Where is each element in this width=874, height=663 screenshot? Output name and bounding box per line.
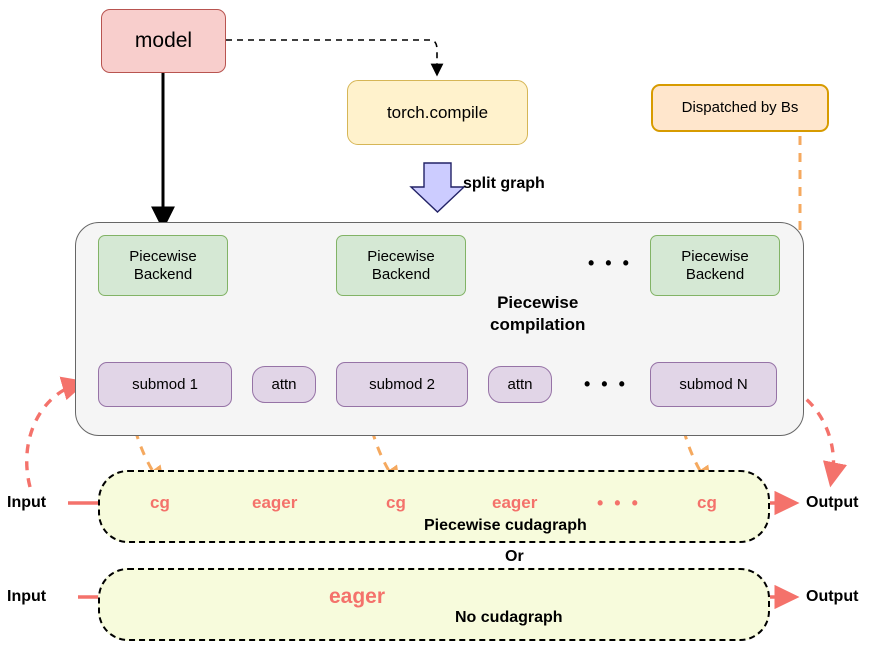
torch-compile-label: torch.compile <box>387 103 488 123</box>
submod-2[interactable]: submod 2 <box>336 362 468 407</box>
backend-1-line1: Piecewise <box>129 248 197 265</box>
attn-2-label: attn <box>507 376 532 393</box>
backend-1-line2: Backend <box>134 266 192 283</box>
piecewise-compilation-label-line1: Piecewise <box>490 292 585 314</box>
submod-ellipsis: • • • <box>584 374 628 395</box>
or-label: Or <box>505 548 524 566</box>
split-graph-label: split graph <box>463 175 545 193</box>
lane1-output-label: Output <box>806 494 858 512</box>
no-cudagraph-lane-label: No cudagraph <box>455 609 563 627</box>
lane2-step-eager: eager <box>329 585 385 609</box>
lane1-step-cg-3: cg <box>697 493 717 513</box>
submod-n-label: submod N <box>679 376 747 393</box>
dispatched-by-bs-label: Dispatched by Bs <box>682 99 799 116</box>
attn-1-label: attn <box>271 376 296 393</box>
diagram-canvas: model torch.compile Dispatched by Bs spl… <box>0 0 874 663</box>
backend-2-line2: Backend <box>372 266 430 283</box>
lane1-step-eager-1: eager <box>252 493 297 513</box>
backend-2-line1: Piecewise <box>367 248 435 265</box>
attn-1[interactable]: attn <box>252 366 316 403</box>
lane1-input-label: Input <box>7 494 46 512</box>
piecewise-compilation-label: Piecewise compilation <box>490 292 585 336</box>
edge-model-to-compile <box>226 40 437 72</box>
lane2-input-label: Input <box>7 588 46 606</box>
model-node[interactable]: model <box>101 9 226 73</box>
piecewise-compilation-label-line2: compilation <box>490 314 585 336</box>
backend-n-line2: Backend <box>686 266 744 283</box>
submod-2-label: submod 2 <box>369 376 435 393</box>
lane1-step-cg-2: cg <box>386 493 406 513</box>
piecewise-backend-n[interactable]: Piecewise Backend <box>650 235 780 296</box>
piecewise-backend-2[interactable]: Piecewise Backend <box>336 235 466 296</box>
torch-compile-node[interactable]: torch.compile <box>347 80 528 145</box>
piecewise-cudagraph-lane-label: Piecewise cudagraph <box>424 517 587 535</box>
attn-2[interactable]: attn <box>488 366 552 403</box>
piecewise-backend-1[interactable]: Piecewise Backend <box>98 235 228 296</box>
lane1-step-eager-2: eager <box>492 493 537 513</box>
lane1-step-cg-1: cg <box>150 493 170 513</box>
lane1-step-ellipsis: • • • <box>597 493 641 514</box>
no-cudagraph-lane <box>98 568 770 641</box>
submod-1[interactable]: submod 1 <box>98 362 232 407</box>
submod-n[interactable]: submod N <box>650 362 777 407</box>
submod-1-label: submod 1 <box>132 376 198 393</box>
edge-input-to-submod1 <box>27 384 78 487</box>
backend-n-line1: Piecewise <box>681 248 749 265</box>
split-graph-arrow <box>411 163 464 212</box>
dispatched-by-bs-node[interactable]: Dispatched by Bs <box>651 84 829 132</box>
backend-ellipsis: • • • <box>588 253 632 274</box>
model-label: model <box>135 29 192 53</box>
lane2-output-label: Output <box>806 588 858 606</box>
